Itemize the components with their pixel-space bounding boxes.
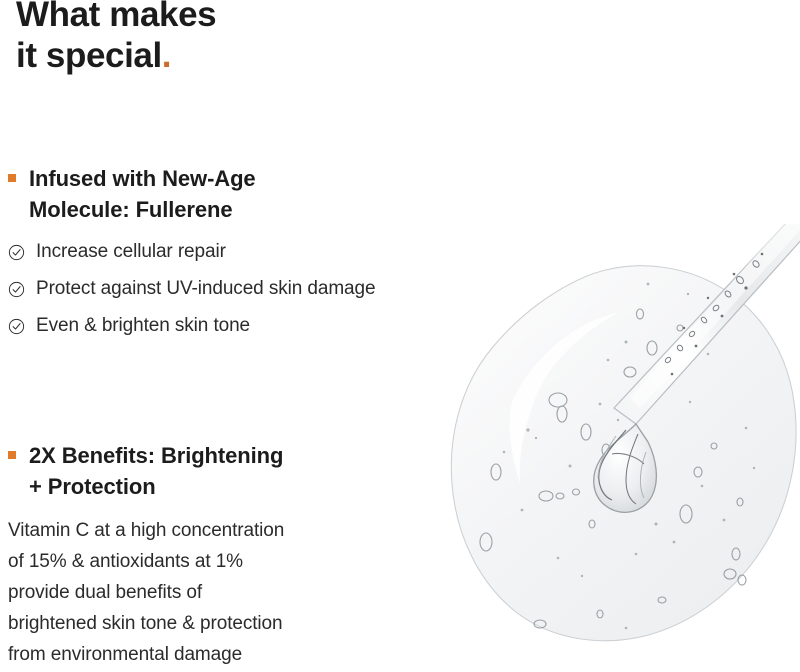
list-item: Protect against UV-induced skin damage [8, 278, 375, 301]
feature-section-2x-benefits: 2X Benefits: Brightening + Protection Vi… [8, 440, 284, 670]
list-item: Even & brighten skin tone [8, 315, 375, 338]
list-item-label: Even & brighten skin tone [36, 315, 250, 338]
glass-dropper-pipette [594, 224, 800, 512]
gel-speckles [503, 283, 755, 630]
description-line-4: brightened skin tone & protection [8, 609, 284, 640]
page-title-line-2: it special. [16, 35, 216, 76]
gel-blob [451, 266, 796, 641]
square-bullet-icon [8, 174, 16, 182]
feature-heading-line-1: 2X Benefits: Brightening [29, 440, 283, 471]
description-line-1: Vitamin C at a high concentration [8, 516, 284, 547]
circle-check-icon [8, 281, 25, 298]
list-item-label: Increase cellular repair [36, 241, 226, 264]
list-item: Increase cellular repair [8, 241, 375, 264]
description-line-2: of 15% & antioxidants at 1% [8, 547, 284, 578]
feature-heading-line-2: Molecule: Fullerene [29, 194, 256, 225]
page-title-line-1: What makes [16, 0, 216, 35]
feature-heading-row: 2X Benefits: Brightening + Protection [8, 440, 284, 502]
feature-heading-row: Infused with New-Age Molecule: Fullerene [8, 163, 375, 225]
gel-bubbles [480, 309, 746, 628]
promo-panel: What makes it special. Infused with New-… [0, 0, 800, 672]
square-bullet-icon [8, 451, 16, 459]
feature-section-fullerene: Infused with New-Age Molecule: Fullerene… [8, 163, 375, 338]
list-item-label: Protect against UV-induced skin damage [36, 278, 375, 301]
title-accent-dot: . [162, 36, 171, 75]
feature-heading: 2X Benefits: Brightening + Protection [29, 440, 283, 502]
page-title: What makes it special. [16, 0, 216, 77]
feature-heading-line-1: Infused with New-Age [29, 163, 256, 194]
serum-gel-blob-with-dropper-image [440, 224, 800, 672]
feature-heading-line-2: + Protection [29, 471, 283, 502]
feature-heading: Infused with New-Age Molecule: Fullerene [29, 163, 256, 225]
benefit-check-list: Increase cellular repair Protect against… [8, 241, 375, 337]
page-title-line-2-text: it special [16, 36, 162, 75]
circle-check-icon [8, 244, 25, 261]
feature-description: Vitamin C at a high concentration of 15%… [8, 516, 284, 670]
circle-check-icon [8, 318, 25, 335]
description-line-3: provide dual benefits of [8, 578, 284, 609]
description-line-5: from environmental damage [8, 640, 284, 671]
